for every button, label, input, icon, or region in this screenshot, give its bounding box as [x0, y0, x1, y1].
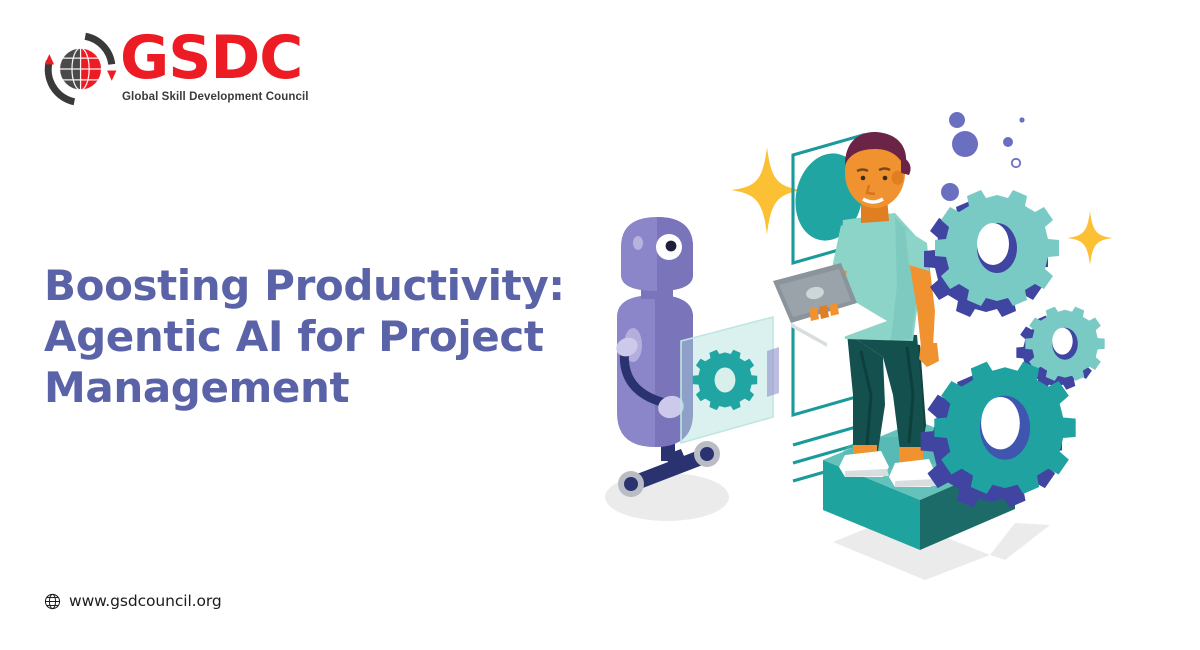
page-title: Boosting Productivity: Agentic AI for Pr…: [44, 260, 604, 413]
gsdc-logo[interactable]: GSDC Global Skill Development Council: [40, 28, 309, 108]
person-with-laptop: [773, 132, 939, 487]
logo-wordmark: GSDC: [120, 28, 302, 88]
globe-arc-logo-icon: [40, 30, 118, 108]
holographic-gear-panel: [681, 317, 779, 443]
logo-text-block: GSDC Global Skill Development Council: [120, 28, 309, 104]
purple-robot-on-wheels: [605, 217, 779, 521]
gear-top-large: [924, 190, 1059, 317]
globe-icon: [44, 593, 61, 610]
banner-root: GSDC Global Skill Development Council Bo…: [0, 0, 1200, 650]
footer-url-label: www.gsdcouncil.org: [69, 592, 222, 610]
yellow-sparkle-small: [1067, 211, 1113, 265]
footer-website[interactable]: www.gsdcouncil.org: [44, 592, 222, 610]
logo-tagline: Global Skill Development Council: [122, 90, 309, 104]
agentic-ai-project-management-illustration: [595, 95, 1155, 595]
